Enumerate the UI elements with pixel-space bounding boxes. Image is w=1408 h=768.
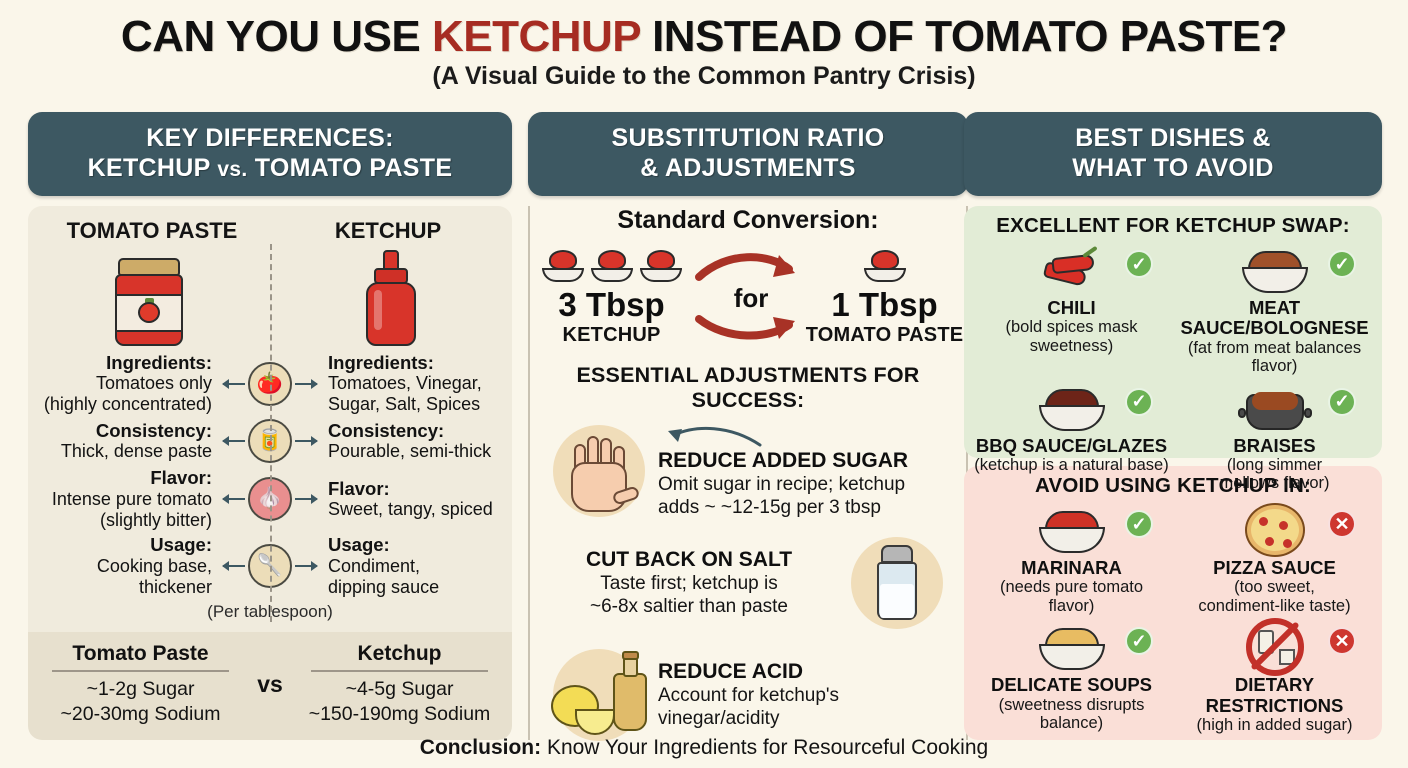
- row-right-value: Tomatoes, Vinegar, Sugar, Salt, Spices: [328, 373, 482, 414]
- conclusion-text: Know Your Ingredients for Resourceful Co…: [541, 736, 988, 759]
- nutrition-table: Tomato Paste ~1-2g Sugar ~20-30mg Sodium…: [28, 632, 512, 740]
- for-label: for: [693, 283, 809, 314]
- item-name: BBQ SAUCE/GLAZES: [972, 436, 1171, 456]
- arrow-right-icon: [295, 498, 317, 500]
- left-header-ketchup: KETCHUP: [88, 154, 211, 182]
- nutrition-ketchup-sugar: ~4-5g Sugar: [297, 677, 502, 701]
- row-right-value: Condiment, dipping sauce: [328, 556, 439, 597]
- arrow-right-icon: [295, 440, 317, 442]
- left-header-line2: KETCHUP vs. TOMATO PASTE: [36, 154, 504, 184]
- arrow-right-icon: [295, 565, 317, 567]
- item-name: CHILI: [972, 298, 1171, 318]
- to-amount: 1 Tbsp: [803, 286, 966, 324]
- adjustment-title: CUT BACK ON SALT: [540, 548, 838, 572]
- row-right-label: Consistency:: [328, 420, 508, 441]
- panel-avoid-using: AVOID USING KETCHUP IN: ✓ MARINARA (need…: [964, 466, 1382, 740]
- excellent-title: EXCELLENT FOR KETCHUP SWAP:: [970, 214, 1376, 238]
- middle-panel: Standard Conversion: 3 Tbsp KETCHUP: [528, 206, 968, 740]
- list-item: ✓ MEAT SAUCE/BOLOGNESE (fat from meat ba…: [1173, 238, 1376, 376]
- row-right-label: Usage:: [328, 534, 508, 555]
- list-item: ✕ DIETARY RESTRICTIONS (high in added su…: [1173, 615, 1376, 734]
- check-icon: ✓: [1328, 388, 1356, 416]
- check-icon: ✓: [1125, 250, 1153, 278]
- chili-pepper-icon: ✓: [972, 242, 1171, 298]
- title-highlight: KETCHUP: [432, 12, 640, 61]
- row-left-label: Flavor:: [32, 467, 212, 488]
- check-icon: ✓: [1125, 627, 1153, 655]
- nutrition-ketchup-sodium: ~150-190mg Sodium: [297, 702, 502, 726]
- from-amount: 3 Tbsp: [530, 286, 693, 324]
- left-header-line1: KEY DIFFERENCES:: [36, 124, 504, 154]
- nutrition-paste-sodium: ~20-30mg Sodium: [38, 702, 243, 726]
- three-dishes-icon: [530, 248, 693, 282]
- nutrition-paste-name: Tomato Paste: [38, 642, 243, 666]
- adjustment-text: CUT BACK ON SALT Taste first; ketchup is…: [540, 548, 838, 619]
- middle-header-line1: SUBSTITUTION RATIO: [536, 124, 960, 154]
- arrow-left-icon: [223, 383, 245, 385]
- adjustment-text: REDUCE ACID Account for ketchup's vinega…: [658, 660, 956, 731]
- divider: [52, 670, 229, 672]
- row-left-value: Tomatoes only (highly concentrated): [44, 373, 212, 414]
- divider: [311, 670, 488, 672]
- arrow-left-icon: [223, 498, 245, 500]
- from-label: KETCHUP: [530, 324, 693, 347]
- row-left-value: Intense pure tomato (slightly bitter): [52, 489, 212, 530]
- row-right-text: Ingredients: Tomatoes, Vinegar, Sugar, S…: [324, 352, 508, 415]
- arrow-right-icon: [295, 383, 317, 385]
- bbq-sauce-bowl-icon: ✓: [972, 380, 1171, 436]
- item-desc: (long simmer mellows flavor): [1175, 456, 1374, 493]
- adjustment-title: REDUCE ADDED SUGAR: [658, 449, 956, 473]
- marinara-bowl-icon: ✓: [972, 502, 1171, 558]
- nutrition-col-ketchup: Ketchup ~4-5g Sugar ~150-190mg Sodium: [297, 642, 502, 726]
- nutrition-col-paste: Tomato Paste ~1-2g Sugar ~20-30mg Sodium: [38, 642, 243, 726]
- avoid-grid: ✓ MARINARA (needs pure tomato flavor): [970, 498, 1376, 734]
- conversion-to: 1 Tbsp TOMATO PASTE: [803, 248, 966, 347]
- column-best-dishes: BEST DISHES & WHAT TO AVOID EXCELLENT FO…: [964, 112, 1382, 740]
- adjustment-cut-salt: CUT BACK ON SALT Taste first; ketchup is…: [530, 529, 966, 637]
- ketchup-bottle-icon: [360, 250, 422, 346]
- list-item: ✓ MARINARA (needs pure tomato flavor): [970, 498, 1173, 615]
- cross-icon: ✕: [1328, 510, 1356, 538]
- adjustment-reduce-sugar: REDUCE ADDED SUGAR Omit sugar in recipe;…: [530, 417, 966, 525]
- item-name: PIZZA SAUCE: [1175, 558, 1374, 578]
- nutrition-vs-label: vs: [243, 671, 297, 698]
- middle-header-line2: & ADJUSTMENTS: [536, 154, 960, 184]
- adjustment-title: REDUCE ACID: [658, 660, 956, 684]
- row-right-value: Sweet, tangy, spiced: [328, 499, 493, 519]
- curved-arrow-icon: [660, 423, 770, 449]
- title-pre: CAN YOU USE: [121, 12, 432, 61]
- item-desc: (bold spices mask sweetness): [972, 318, 1171, 355]
- list-item: ✕ PIZZA SAUCE (too sweet, condiment-like…: [1173, 498, 1376, 615]
- vertical-divider: [270, 244, 272, 622]
- row-right-label: Ingredients:: [328, 352, 508, 373]
- right-column-header: BEST DISHES & WHAT TO AVOID: [964, 112, 1382, 196]
- salt-shaker-icon: [838, 529, 956, 637]
- row-left-text: Ingredients: Tomatoes only (highly conce…: [32, 352, 216, 415]
- left-header-paste: TOMATO PASTE: [255, 154, 453, 182]
- middle-column-header: SUBSTITUTION RATIO & ADJUSTMENTS: [528, 112, 968, 196]
- braise-pot-icon: ✓: [1175, 380, 1374, 436]
- list-item: ✓ CHILI (bold spices mask sweetness): [970, 238, 1173, 376]
- adjustment-body: Account for ketchup's vinegar/acidity: [658, 685, 956, 731]
- list-item: ✓ BRAISES (long simmer mellows flavor): [1173, 376, 1376, 493]
- lemon-vinegar-icon: [540, 641, 658, 749]
- row-left-value: Cooking base, thickener: [97, 556, 212, 597]
- adjustment-reduce-acid: REDUCE ACID Account for ketchup's vinega…: [530, 641, 966, 749]
- left-header-vs: vs.: [217, 158, 247, 181]
- item-desc: (high in added sugar): [1175, 716, 1374, 734]
- product-headers: TOMATO PASTE KETCHUP: [28, 206, 512, 244]
- row-right-text: Consistency: Pourable, semi-thick: [324, 420, 508, 462]
- adjustment-body: Taste first; ketchup is ~6-8x saltier th…: [540, 573, 838, 619]
- conversion-row: 3 Tbsp KETCHUP for 1 Tb: [530, 243, 966, 351]
- list-item: ✓ BBQ SAUCE/GLAZES (ketchup is a natural…: [970, 376, 1173, 493]
- standard-conversion-title: Standard Conversion:: [530, 206, 966, 235]
- conclusion-footer: Conclusion: Know Your Ingredients for Re…: [0, 736, 1408, 760]
- row-left-label: Ingredients:: [32, 352, 212, 373]
- item-name: DIETARY RESTRICTIONS: [1175, 675, 1374, 716]
- conclusion-label: Conclusion:: [420, 736, 541, 759]
- page-subtitle: (A Visual Guide to the Common Pantry Cri…: [0, 62, 1408, 91]
- adjustment-text: REDUCE ADDED SUGAR Omit sugar in recipe;…: [658, 423, 956, 520]
- adjustment-body: Omit sugar in recipe; ketchup adds ~ ~12…: [658, 474, 956, 520]
- meat-sauce-bowl-icon: ✓: [1175, 242, 1374, 298]
- right-header-line1: BEST DISHES &: [972, 124, 1374, 154]
- left-panel: TOMATO PASTE KETCHUP: [28, 206, 512, 740]
- product-label-left: TOMATO PASTE: [34, 218, 270, 244]
- page-title: CAN YOU USE KETCHUP INSTEAD OF TOMATO PA…: [0, 12, 1408, 63]
- cross-icon: ✕: [1328, 627, 1356, 655]
- check-icon: ✓: [1125, 388, 1153, 416]
- item-desc: (needs pure tomato flavor): [972, 578, 1171, 615]
- to-label: TOMATO PASTE: [803, 324, 966, 347]
- panel-excellent-swap: EXCELLENT FOR KETCHUP SWAP: ✓ CHILI (bol…: [964, 206, 1382, 458]
- row-right-text: Usage: Condiment, dipping sauce: [324, 534, 508, 597]
- nutrition-ketchup-name: Ketchup: [297, 642, 502, 666]
- item-desc: (sweetness disrupts balance): [972, 696, 1171, 733]
- arrow-left-icon: [223, 440, 245, 442]
- column-substitution-ratio: SUBSTITUTION RATIO & ADJUSTMENTS Standar…: [528, 112, 968, 740]
- hand-stop-icon: [540, 417, 658, 525]
- tomato-paste-jar-icon: [112, 258, 186, 346]
- item-desc: (ketchup is a natural base): [972, 456, 1171, 474]
- row-left-value: Thick, dense paste: [61, 441, 212, 461]
- item-desc: (too sweet, condiment-like taste): [1175, 578, 1374, 615]
- product-label-right: KETCHUP: [270, 218, 506, 244]
- for-arrows: for: [693, 243, 803, 351]
- check-icon: ✓: [1328, 250, 1356, 278]
- row-right-text: Flavor: Sweet, tangy, spiced: [324, 478, 508, 520]
- row-left-label: Usage:: [32, 534, 212, 555]
- row-left-text: Flavor: Intense pure tomato (slightly bi…: [32, 467, 216, 530]
- one-dish-icon: [803, 248, 966, 282]
- item-name: MEAT SAUCE/BOLOGNESE: [1175, 298, 1374, 339]
- soup-bowl-icon: ✓: [972, 619, 1171, 675]
- pizza-icon: ✕: [1175, 502, 1374, 558]
- no-sugar-icon: ✕: [1175, 619, 1374, 675]
- item-name: MARINARA: [972, 558, 1171, 578]
- arrow-left-icon: [223, 565, 245, 567]
- right-header-line2: WHAT TO AVOID: [972, 154, 1374, 184]
- item-name: BRAISES: [1175, 436, 1374, 456]
- infographic-page: CAN YOU USE KETCHUP INSTEAD OF TOMATO PA…: [0, 0, 1408, 768]
- conversion-from: 3 Tbsp KETCHUP: [530, 248, 693, 347]
- column-key-differences: KEY DIFFERENCES: KETCHUP vs. TOMATO PAST…: [28, 112, 512, 740]
- nutrition-paste-sugar: ~1-2g Sugar: [38, 677, 243, 701]
- title-post: INSTEAD OF TOMATO PASTE?: [640, 12, 1287, 61]
- ketchup-bottle-cell: [270, 250, 512, 346]
- tomato-paste-jar-cell: [28, 250, 270, 346]
- row-left-text: Consistency: Thick, dense paste: [32, 420, 216, 462]
- check-icon: ✓: [1125, 510, 1153, 538]
- item-desc: (fat from meat balances flavor): [1175, 339, 1374, 376]
- row-right-value: Pourable, semi-thick: [328, 441, 491, 461]
- row-left-text: Usage: Cooking base, thickener: [32, 534, 216, 597]
- excellent-grid: ✓ CHILI (bold spices mask sweetness) ✓ M…: [970, 238, 1376, 493]
- item-name: DELICATE SOUPS: [972, 675, 1171, 695]
- row-right-label: Flavor:: [328, 478, 508, 499]
- essential-adjustments-title: ESSENTIAL ADJUSTMENTS FOR SUCCESS:: [530, 363, 966, 413]
- list-item: ✓ DELICATE SOUPS (sweetness disrupts bal…: [970, 615, 1173, 734]
- left-column-header: KEY DIFFERENCES: KETCHUP vs. TOMATO PAST…: [28, 112, 512, 196]
- row-left-label: Consistency:: [32, 420, 212, 441]
